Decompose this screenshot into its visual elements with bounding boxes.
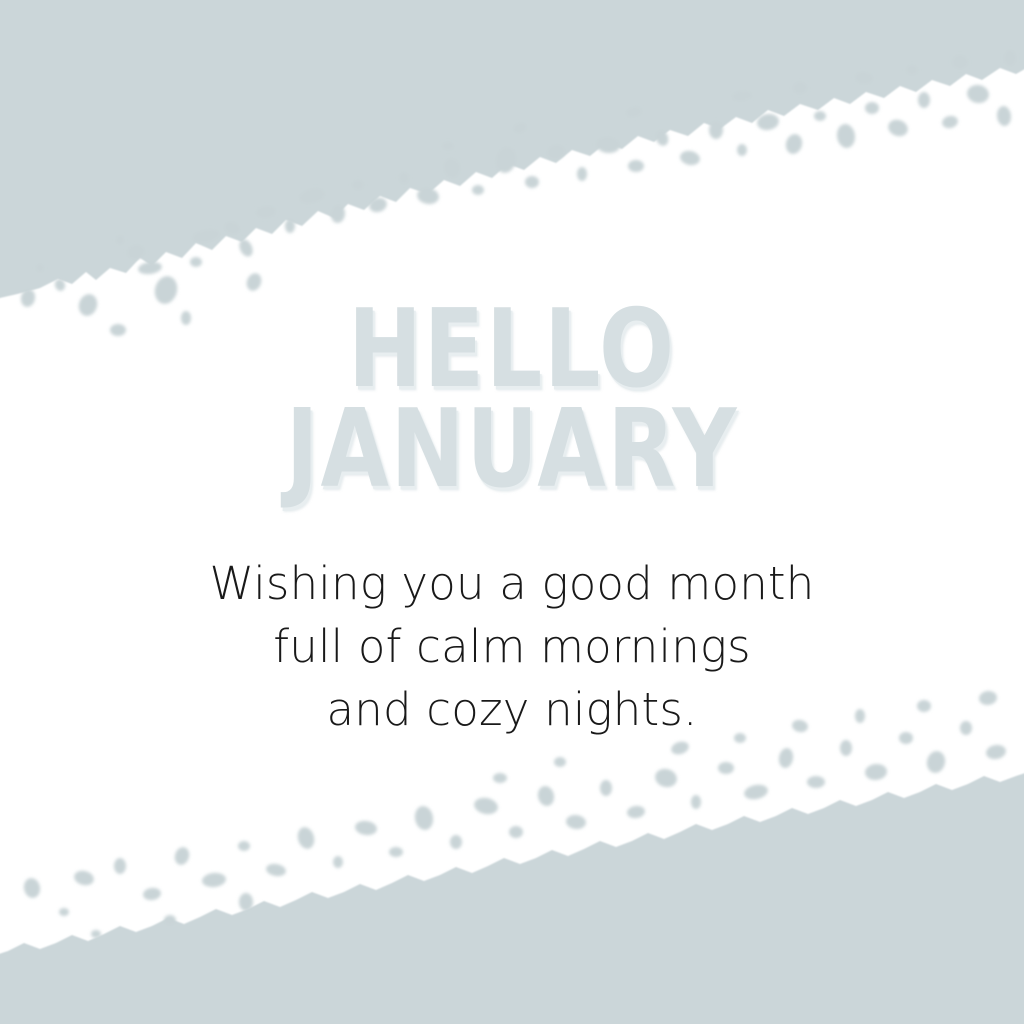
- card-title: HELLO JANUARY: [0, 305, 1024, 494]
- white-paper-shape: [0, 64, 1024, 1024]
- message-line-1: Wishing you a good month: [0, 552, 1024, 615]
- message-line-2: full of calm mornings: [0, 615, 1024, 678]
- title-line-hello: HELLO: [41, 300, 983, 399]
- torn-paper-artwork: [0, 0, 1024, 1024]
- greeting-card-canvas: HELLO JANUARY Wishing you a good month f…: [0, 0, 1024, 1024]
- card-message: Wishing you a good month full of calm mo…: [0, 552, 1024, 741]
- message-line-3: and cozy nights.: [0, 678, 1024, 741]
- title-line-january: JANUARY: [41, 400, 983, 499]
